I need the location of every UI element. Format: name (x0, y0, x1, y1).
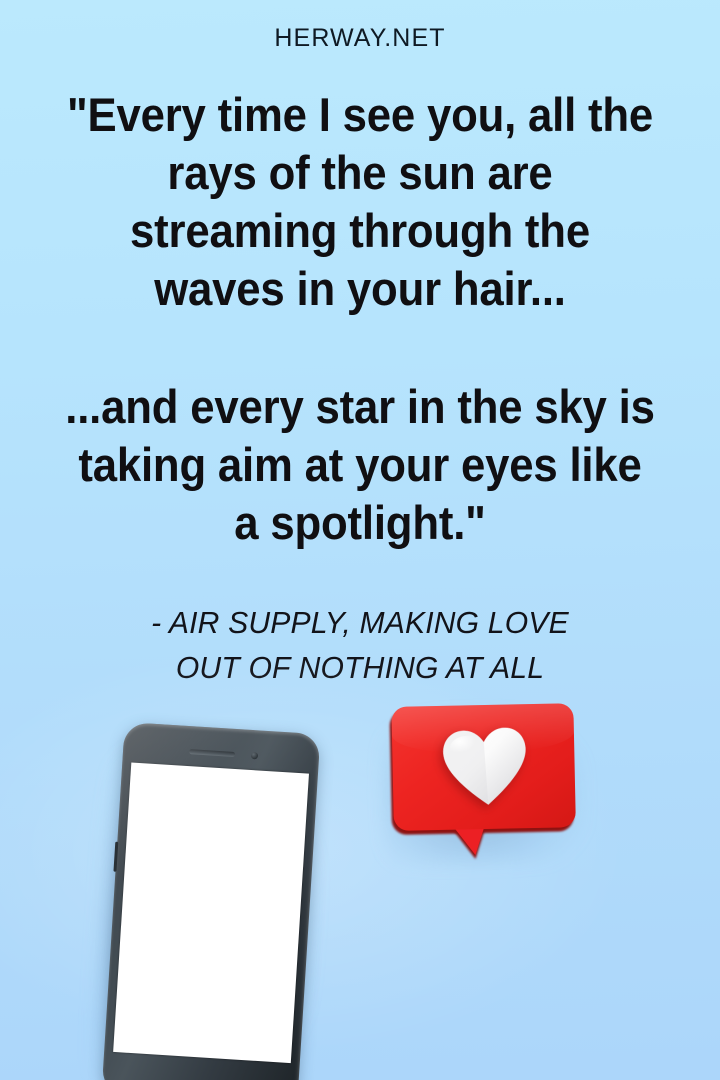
quote-paragraph-2: ...and every star in the sky is taking a… (64, 378, 655, 552)
phone-screen (113, 762, 309, 1063)
quote-attribution: - AIR SUPPLY, MAKING LOVE OUT OF NOTHING… (52, 600, 669, 690)
attribution-line-2: OUT OF NOTHING AT ALL (52, 645, 669, 690)
phone-camera-icon (251, 752, 258, 759)
heart-icon (440, 724, 532, 810)
smartphone-image (102, 722, 321, 1080)
quote-paragraph-1: "Every time I see you, all the rays of t… (64, 86, 655, 318)
attribution-line-1: - AIR SUPPLY, MAKING LOVE (52, 600, 669, 645)
quote-block: "Every time I see you, all the rays of t… (42, 86, 678, 690)
phone-speaker-icon (189, 749, 235, 757)
quote-poster: HERWAY.NET "Every time I see you, all th… (0, 0, 720, 1080)
phone-body (102, 722, 321, 1080)
heart-speech-bubble-image (387, 701, 584, 870)
site-brand: HERWAY.NET (0, 24, 720, 53)
